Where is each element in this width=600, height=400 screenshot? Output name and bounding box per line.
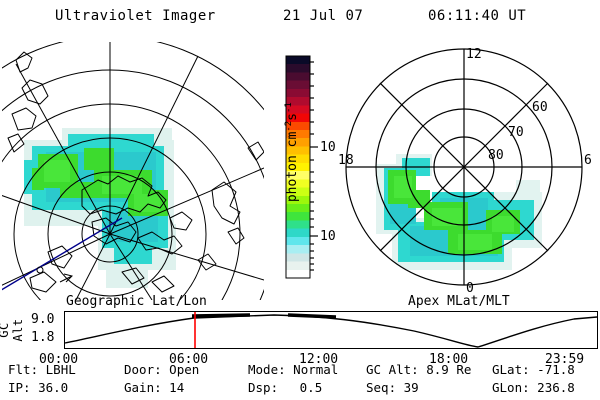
status-glat-value: -71.8 [537,362,575,377]
apex-mlat-mlt-panel[interactable]: 12 6 0 18 60 70 80 [336,42,600,300]
status-mode-label: Mode: [248,362,286,377]
status-gain-label: Gain: [124,380,162,395]
colorbar-panel: photon cm-2s-1 100 10 [264,48,336,296]
altitude-curve [65,315,597,347]
status-gain-value: 14 [169,380,184,395]
status-seq-label: Seq: [366,380,396,395]
status-mode-value: Normal [293,362,338,377]
status-flt-value: LBHL [46,362,76,377]
colorbar-axis-title: photon cm-2s-1 [284,72,300,232]
status-flt-label: Flt: [8,362,38,377]
status-gcalt: GC Alt: 8.9 Re [366,362,471,377]
status-ip-value: 36.0 [38,380,68,395]
status-glon: GLon: 236.8 [492,380,575,395]
status-dsp-value: 0.5 [300,380,323,395]
mlt-label-18: 18 [338,153,354,168]
mlat-label-70: 70 [508,125,524,140]
colorbar-segment [286,237,310,246]
status-ip-label: IP: [8,380,31,395]
status-seq: Seq: 39 [366,380,419,395]
orbit-altitude-strip[interactable]: GC Alt 9.0 1.8 00:00 06:00 12:00 18:00 2… [0,300,600,356]
orbit-y-tick-low: 1.8 [31,330,54,345]
status-ip: IP: 36.0 [8,380,68,395]
mlt-spokes [346,49,582,285]
instrument-title: Ultraviolet Imager [55,8,216,24]
status-gcalt-value: 8.9 Re [426,362,471,377]
orbit-y-tick-high: 9.0 [31,312,54,327]
observation-date: 21 Jul 07 [283,8,363,24]
status-flt: Flt: LBHL [8,362,76,377]
status-dsp: Dsp: 0.5 [248,380,322,395]
status-dsp-label: Dsp: [248,380,278,395]
status-mode: Mode: Normal [248,362,338,377]
status-seq-value: 39 [404,380,419,395]
status-gcalt-label: GC Alt: [366,362,419,377]
orbit-y-axis-title: GC Alt [0,307,25,353]
colorbar-segment [286,262,310,271]
geographic-image-panel[interactable] [2,42,264,300]
colorbar-segment [286,253,310,262]
colorbar-segment [286,270,310,279]
status-glat: GLat: -71.8 [492,362,575,377]
status-gain: Gain: 14 [124,380,184,395]
status-door-label: Door: [124,362,162,377]
status-glat-label: GLat: [492,362,530,377]
observation-time: 06:11:40 UT [428,8,526,24]
apex-polar-plot: 12 6 0 18 60 70 80 [336,42,600,300]
colorbar-tick-label-100: 100 [320,140,336,155]
status-footer: Flt: LBHL Door: Open Mode: Normal GC Alt… [0,362,600,400]
mlt-label-6: 6 [584,153,592,168]
colorbar-ticks [310,62,318,270]
mlat-label-80: 80 [488,148,504,163]
status-row-1: Flt: LBHL Door: Open Mode: Normal GC Alt… [0,362,600,378]
mlat-label-60: 60 [532,100,548,115]
colorbar-segment [286,245,310,254]
colorbar-tick-label-10: 10 [320,229,336,244]
geographic-plot [2,42,264,300]
status-door: Door: Open [124,362,199,377]
orbit-altitude-plot [64,311,598,349]
status-row-2: IP: 36.0 Gain: 14 Dsp: 0.5 Seq: 39 GLon:… [0,380,600,396]
mlt-label-12: 12 [466,47,482,62]
colorbar-segment [286,56,310,65]
status-glon-label: GLon: [492,380,530,395]
status-door-value: Open [169,362,199,377]
status-glon-value: 236.8 [537,380,575,395]
